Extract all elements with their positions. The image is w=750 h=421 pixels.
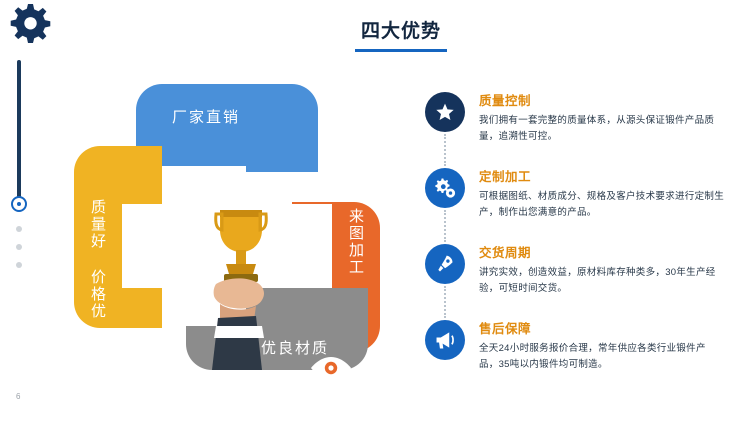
progress-rail [17,60,21,200]
feature-heading-1: 质量控制 [479,90,725,109]
progress-dot-3[interactable] [16,262,22,268]
feature-heading-3: 交货周期 [479,242,725,261]
diagram-label-blue: 厂家直销 [136,106,276,127]
feature-body-3: 讲究实效，创造效益，原材料库存种类多，30年生产经验，可短时间交货。 [479,265,725,297]
progress-dot-2[interactable] [16,244,22,250]
rocket-icon [425,244,465,284]
megaphone-icon [425,320,465,360]
diagram-number-02: 02 [360,360,384,386]
feature-body-1: 我们拥有一套完整的质量体系，从源头保证锻件产品质量，追溯性可控。 [479,113,725,145]
feature-item-custom-processing: 定制加工 可根据图纸、材质成分、规格及客户技术要求进行定制生产，制作出您满意的产… [425,166,725,240]
page-title: 四大优势 [336,20,466,44]
diagram-number-01: 01 [332,106,356,132]
feature-heading-2: 定制加工 [479,166,725,185]
feature-body-2: 可根据图纸、材质成分、规格及客户技术要求进行定制生产，制作出您满意的产品。 [479,189,725,221]
slide-canvas: 6 四大优势 厂家直销 质量好 价格优 来图加工 优良材质 01 02 03 0… [0,0,750,421]
feature-connector-3 [444,286,448,318]
feature-list: 质量控制 我们拥有一套完整的质量体系，从源头保证锻件产品质量，追溯性可控。 定制… [425,88,725,392]
page-number: 6 [16,392,20,401]
feature-item-delivery-cycle: 交货周期 讲究实效，创造效益，原材料库存种类多，30年生产经验，可短时间交货。 [425,242,725,316]
gear-icon [8,4,52,46]
page-title-group: 四大优势 [336,20,466,52]
person-icon [330,133,358,172]
feature-item-quality-control: 质量控制 我们拥有一套完整的质量体系，从源头保证锻件产品质量，追溯性可控。 [425,90,725,164]
eye-icon [308,356,354,385]
feature-heading-4: 售后保障 [479,318,725,337]
star-icon [425,92,465,132]
diagram-label-orange: 来图加工 [342,208,366,276]
progress-dot-active[interactable] [11,196,27,212]
progress-dot-1[interactable] [16,226,22,232]
diagram-label-yellow: 质量好 价格优 [84,199,108,320]
advantages-diagram: 厂家直销 质量好 价格优 来图加工 优良材质 01 02 03 04 [60,78,400,378]
gears-icon [425,168,465,208]
feature-body-4: 全天24小时服务报价合理，常年供应各类行业锻件产品，35吨以内锻件均可制造。 [479,341,725,373]
title-underline [355,49,447,52]
feature-item-after-sales: 售后保障 全天24小时服务报价合理，常年供应各类行业锻件产品，35吨以内锻件均可… [425,318,725,392]
feature-connector-1 [444,134,448,166]
diagram-block-blue[interactable]: 厂家直销 [136,84,318,172]
hand-holding-trophy-photo [186,200,296,370]
feature-connector-2 [444,210,448,242]
